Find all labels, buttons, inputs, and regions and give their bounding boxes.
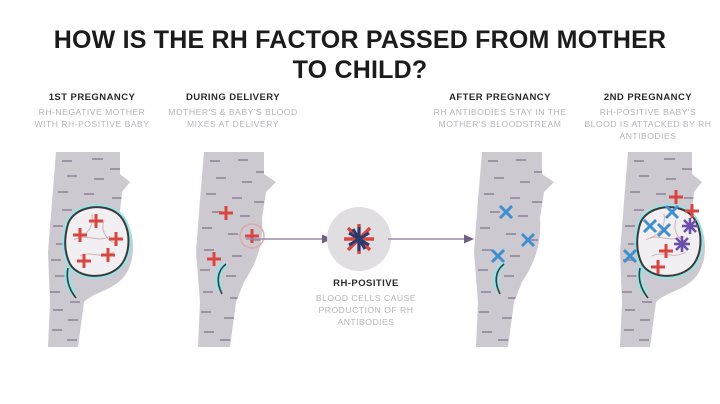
figure-during-delivery: [186, 152, 286, 347]
title-line-2: TO CHILD?: [0, 56, 720, 86]
figure-2nd-pregnancy: [604, 152, 716, 347]
center-caption-rh-positive: RH-POSITIVE BLOOD CELLS CAUSE PRODUCTION…: [292, 278, 440, 328]
torso-silhouette: [196, 152, 276, 347]
page-title: HOW IS THE RH FACTOR PASSED FROM MOTHER …: [0, 26, 720, 85]
rh-factor-infographic: HOW IS THE RH FACTOR PASSED FROM MOTHER …: [0, 0, 720, 404]
center-body: BLOOD CELLS CAUSE PRODUCTION OF RH ANTIB…: [292, 292, 440, 329]
panel-caption-2nd-pregnancy: 2ND PREGNANCY RH-POSITIVE BABY'S BLOOD I…: [582, 92, 714, 142]
panel-body-1: RH-NEGATIVE MOTHER WITH RH-POSITIVE BABY: [26, 106, 158, 130]
figure-1st-pregnancy: [34, 152, 142, 347]
panel-heading-2: DURING DELIVERY: [168, 92, 298, 104]
panel-caption-during-delivery: DURING DELIVERY MOTHER'S & BABY'S BLOOD …: [168, 92, 298, 130]
center-heading: RH-POSITIVE: [292, 278, 440, 290]
panel-body-3: RH ANTIBODIES STAY IN THE MOTHER'S BLOOD…: [432, 106, 568, 130]
torso-silhouette: [474, 152, 554, 347]
figure-after-pregnancy: [464, 152, 564, 347]
panel-body-4: RH-POSITIVE BABY'S BLOOD IS ATTACKED BY …: [582, 106, 714, 143]
arrow-to-burst: [246, 232, 332, 246]
arrow-from-burst: [388, 232, 474, 246]
starburst-blood-cell-icon: [326, 206, 392, 272]
panel-heading-1: 1ST PREGNANCY: [26, 92, 158, 104]
title-line-1: HOW IS THE RH FACTOR PASSED FROM MOTHER: [0, 26, 720, 56]
panel-heading-4: 2ND PREGNANCY: [582, 92, 714, 104]
panel-heading-3: AFTER PREGNANCY: [432, 92, 568, 104]
panel-body-2: MOTHER'S & BABY'S BLOOD MIXES AT DELIVER…: [168, 106, 298, 130]
panel-caption-after-pregnancy: AFTER PREGNANCY RH ANTIBODIES STAY IN TH…: [432, 92, 568, 130]
panel-caption-1st-pregnancy: 1ST PREGNANCY RH-NEGATIVE MOTHER WITH RH…: [26, 92, 158, 130]
